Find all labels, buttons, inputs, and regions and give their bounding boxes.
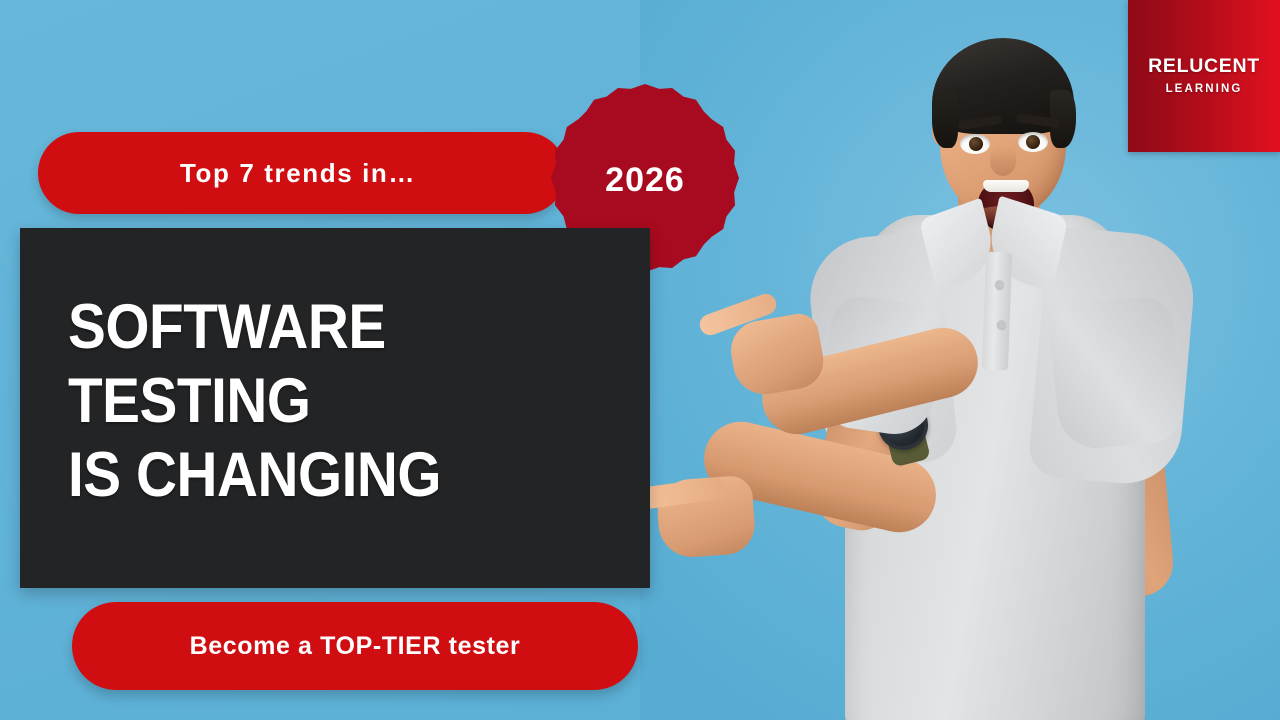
shirt-button-bottom: [997, 320, 1006, 329]
brand-logo[interactable]: RELUCENT LEARNING: [1128, 0, 1280, 152]
teeth: [983, 180, 1029, 192]
headline-panel: SOFTWARE TESTING IS CHANGING: [20, 228, 650, 588]
sleeve-right: [1047, 294, 1186, 452]
headline-line-2: TESTING: [68, 364, 592, 438]
year-badge-label: 2026: [605, 161, 685, 200]
brand-tagline: LEARNING: [1166, 84, 1243, 96]
nose: [990, 146, 1016, 176]
cta-button[interactable]: Become a TOP-TIER tester: [72, 602, 638, 690]
eyebrow-text: Top 7 trends in…: [180, 158, 416, 189]
headline-line-3: IS CHANGING: [68, 438, 592, 512]
headline-line-1: SOFTWARE: [68, 290, 592, 364]
shirt-button-top: [995, 280, 1004, 289]
hair-side-left: [932, 92, 958, 148]
cta-button-label: Become a TOP-TIER tester: [190, 632, 521, 661]
brand-name: RELUCENT: [1148, 57, 1260, 77]
promo-slide: RELUCENT LEARNING Top 7 trends in… 2026 …: [0, 0, 1280, 720]
eyebrow-pill: Top 7 trends in…: [38, 132, 566, 214]
shirt-placket: [982, 252, 1012, 371]
pupil-left: [969, 137, 983, 151]
pupil-right: [1026, 135, 1040, 149]
